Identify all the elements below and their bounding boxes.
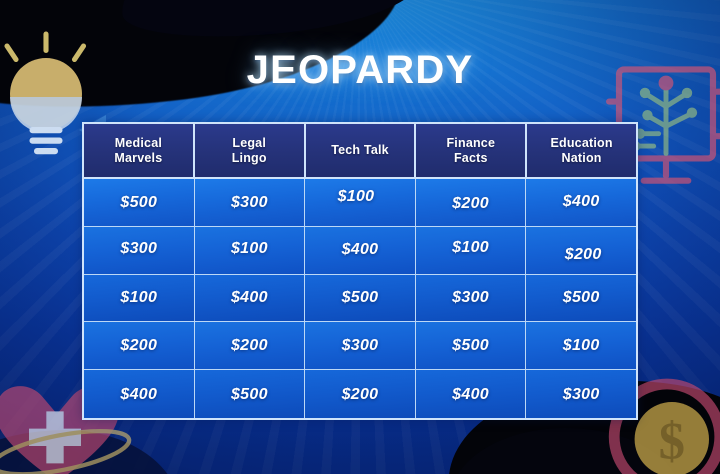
value-label: $200 <box>452 195 489 213</box>
category-line-1: Finance <box>446 136 495 150</box>
value-label: $300 <box>342 337 379 355</box>
value-label: $100 <box>231 240 268 258</box>
value-cell[interactable]: $100 <box>416 227 527 275</box>
value-label: $400 <box>120 386 157 404</box>
value-label: $500 <box>231 386 268 404</box>
value-cell[interactable]: $200 <box>84 322 195 370</box>
value-label: $300 <box>452 289 489 307</box>
value-label: $100 <box>452 239 489 257</box>
value-cell[interactable]: $500 <box>526 275 636 323</box>
value-label: $300 <box>231 194 268 212</box>
value-cell[interactable]: $100 <box>526 322 636 370</box>
jeopardy-slide: $ JEOPARDY Medical Marvels Legal Lingo T… <box>0 0 720 474</box>
value-cell[interactable]: $100 <box>84 275 195 323</box>
value-label: $200 <box>231 337 268 355</box>
category-label: Legal Lingo <box>228 136 271 166</box>
value-label: $300 <box>563 386 600 404</box>
category-line-1: Education <box>550 136 612 150</box>
board-row: $300 $100 $400 $100 $200 <box>84 227 636 275</box>
category-label: Medical Marvels <box>110 136 166 166</box>
page-title: JEOPARDY <box>0 48 720 93</box>
value-cell[interactable]: $100 <box>195 227 306 275</box>
category-cell-tech-talk[interactable]: Tech Talk <box>306 124 417 179</box>
category-line-1: Medical <box>115 136 162 150</box>
board-header-row: Medical Marvels Legal Lingo Tech Talk Fi… <box>84 124 636 179</box>
category-cell-legal-lingo[interactable]: Legal Lingo <box>195 124 306 179</box>
category-cell-medical-marvels[interactable]: Medical Marvels <box>84 124 195 179</box>
value-label: $500 <box>342 289 379 307</box>
value-cell[interactable]: $200 <box>526 227 636 275</box>
value-cell[interactable]: $400 <box>416 370 527 418</box>
jeopardy-board: Medical Marvels Legal Lingo Tech Talk Fi… <box>82 122 638 420</box>
value-label: $200 <box>120 337 157 355</box>
value-label: $200 <box>342 386 379 404</box>
value-label: $100 <box>338 188 375 206</box>
category-label: Finance Facts <box>442 136 499 166</box>
board-row: $400 $500 $200 $400 $300 <box>84 370 636 418</box>
category-cell-education-nation[interactable]: Education Nation <box>527 124 636 179</box>
value-cell[interactable]: $200 <box>195 322 306 370</box>
value-label: $500 <box>452 337 489 355</box>
value-cell[interactable]: $500 <box>195 370 306 418</box>
value-cell[interactable]: $400 <box>305 227 416 275</box>
value-cell[interactable]: $500 <box>84 179 195 227</box>
board-row: $200 $200 $300 $500 $100 <box>84 322 636 370</box>
value-cell[interactable]: $400 <box>84 370 195 418</box>
value-cell[interactable]: $100 <box>305 179 416 227</box>
value-label: $100 <box>563 337 600 355</box>
category-line-2: Lingo <box>232 151 267 165</box>
value-label: $400 <box>231 289 268 307</box>
value-cell[interactable]: $400 <box>195 275 306 323</box>
category-line-2: Facts <box>454 151 488 165</box>
value-label: $500 <box>120 194 157 212</box>
category-cell-finance-facts[interactable]: Finance Facts <box>416 124 527 179</box>
category-line-1: Tech Talk <box>331 143 389 157</box>
category-label: Education Nation <box>546 136 616 166</box>
category-line-2: Nation <box>562 151 602 165</box>
value-label: $400 <box>563 193 600 211</box>
category-line-1: Legal <box>232 136 266 150</box>
value-label: $400 <box>452 386 489 404</box>
value-label: $300 <box>120 240 157 258</box>
value-cell[interactable]: $400 <box>526 179 636 227</box>
category-line-2: Marvels <box>114 151 162 165</box>
value-cell[interactable]: $200 <box>305 370 416 418</box>
value-cell[interactable]: $300 <box>526 370 636 418</box>
value-label: $400 <box>342 241 379 259</box>
value-cell[interactable]: $300 <box>195 179 306 227</box>
board-row: $500 $300 $100 $200 $400 <box>84 179 636 227</box>
value-cell[interactable]: $300 <box>305 322 416 370</box>
value-label: $500 <box>563 289 600 307</box>
value-label: $200 <box>565 246 602 264</box>
value-cell[interactable]: $200 <box>416 179 527 227</box>
value-cell[interactable]: $300 <box>84 227 195 275</box>
value-label: $100 <box>120 289 157 307</box>
value-cell[interactable]: $500 <box>416 322 527 370</box>
svg-text:$: $ <box>659 412 685 470</box>
value-cell[interactable]: $500 <box>305 275 416 323</box>
board-row: $100 $400 $500 $300 $500 <box>84 275 636 323</box>
category-label: Tech Talk <box>327 143 393 158</box>
value-cell[interactable]: $300 <box>416 275 527 323</box>
